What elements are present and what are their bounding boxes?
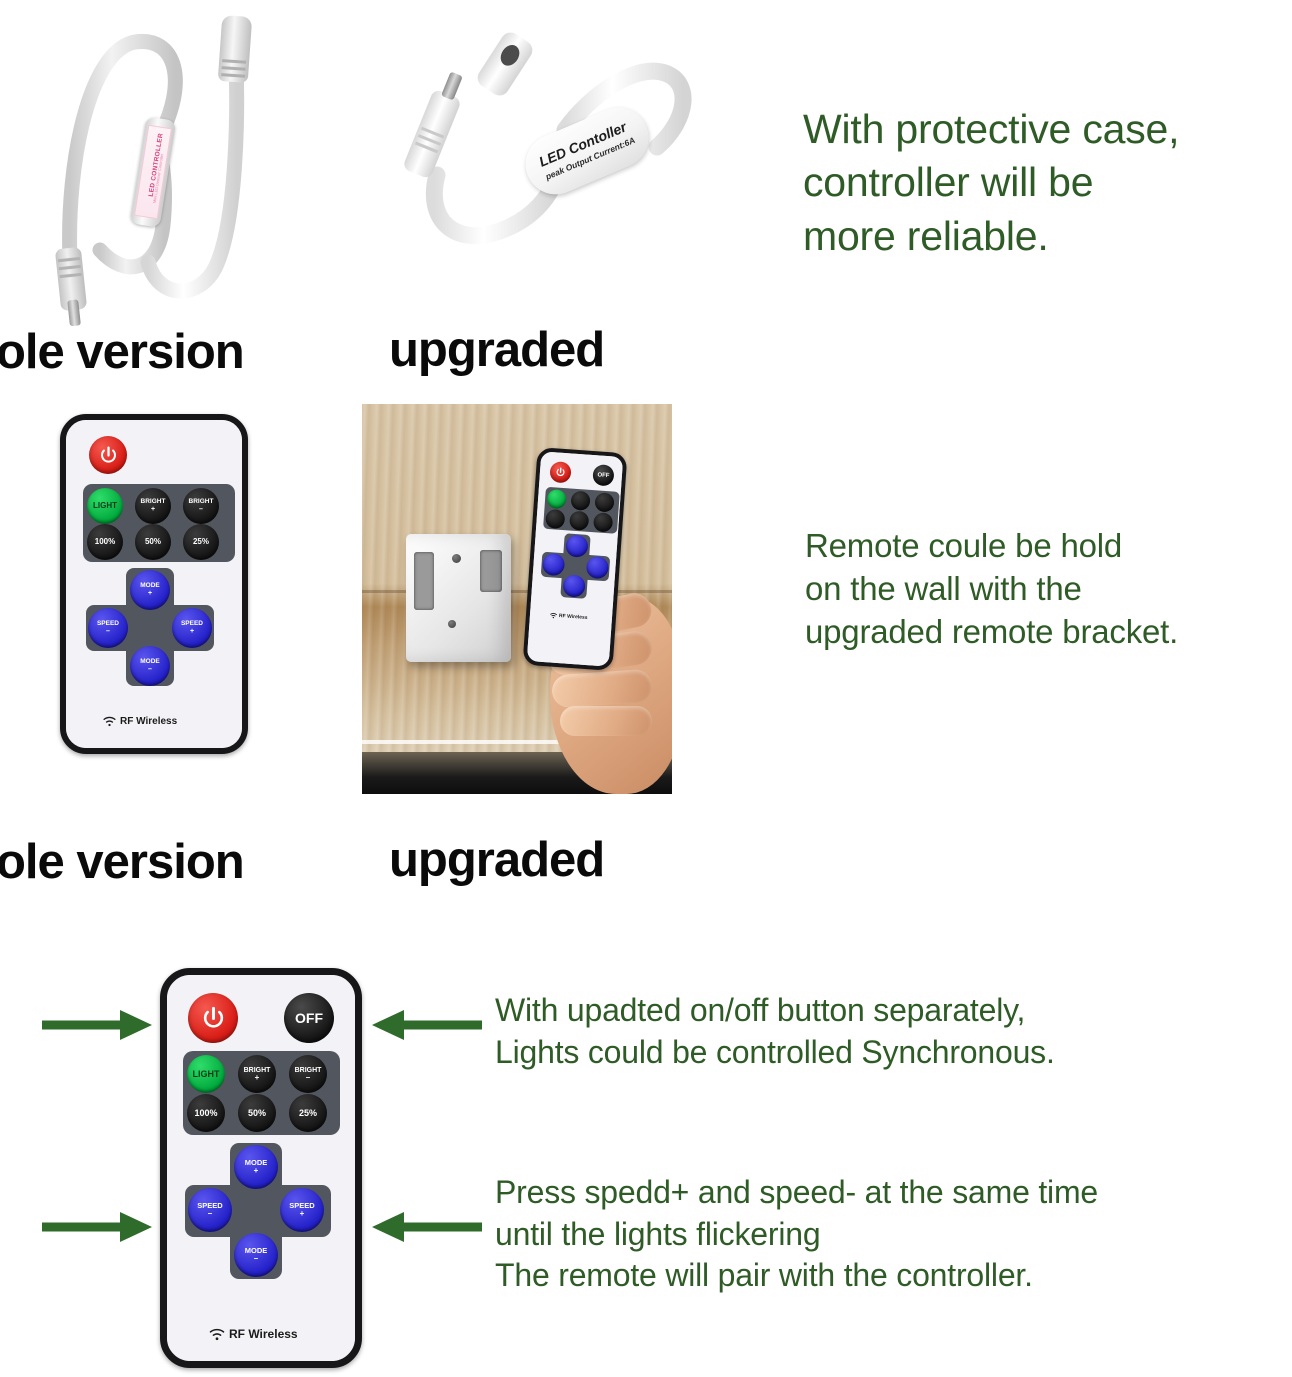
rf-wireless-footer: RF Wireless [103,716,177,727]
off-button-photo: OFF [592,464,614,486]
bright-down-sub: – [199,506,203,513]
speed-down-large-sub: – [208,1210,212,1218]
light-button-large-label: LIGHT [193,1070,220,1079]
wifi-icon-large [209,1328,225,1341]
bright-up-button[interactable]: BRIGHT + [135,488,171,524]
brightness-100-label: 100% [95,538,115,546]
remote-wall-bracket [406,534,511,662]
upgraded-remote-large[interactable]: OFF LIGHT BRIGHT + BRIGHT – 100% 50% 25% [160,968,362,1368]
off-button-label: OFF [295,1010,323,1026]
brightness-25-button[interactable]: 25% [183,524,219,560]
callout-protective-case: With protective case, controller will be… [803,103,1263,263]
power-icon [98,445,119,466]
light-button-label: LIGHT [93,502,117,510]
mode-up-button[interactable]: MODE + [130,570,170,610]
mode-down-button[interactable]: MODE – [130,646,170,686]
arrow-left-speed [40,1207,160,1247]
bright-up-button-large[interactable]: BRIGHT + [238,1055,276,1093]
speed-up-button[interactable]: SPEED + [172,608,212,648]
infographic-page: LED CONTROLLER Mini LED Dimmer Controlle… [0,0,1292,1377]
old-controller-image: LED CONTROLLER Mini LED Dimmer Controlle… [40,10,340,315]
mode-up-button-large[interactable]: MODE + [234,1145,278,1189]
callout-onoff-separate: With upadted on/off button separately, L… [495,990,1285,1073]
brightness-25-label: 25% [193,538,209,546]
remote-in-hand-face: OFF [527,451,623,666]
bright-up-sub: + [151,506,155,513]
speed-down-button[interactable]: SPEED – [88,608,128,648]
light-button-large[interactable]: LIGHT [187,1055,225,1093]
rf-wireless-photo-label: RF Wireless [559,613,588,621]
mode-down-large-sub: – [254,1255,258,1263]
bright-down-button-large[interactable]: BRIGHT – [289,1055,327,1093]
arrow-right-onoff [364,1005,484,1045]
brightness-50-large-label: 50% [248,1109,266,1118]
light-button[interactable]: LIGHT [87,488,123,524]
arrow-left-onoff [40,1005,160,1045]
bright-up-large-sub: + [255,1074,260,1082]
brightness-50-button[interactable]: 50% [135,524,171,560]
upgraded-controller-image: LED Contoller peak Output Current:6A [395,25,715,290]
rf-wireless-label: RF Wireless [120,716,177,727]
brightness-100-button-large[interactable]: 100% [187,1094,225,1132]
old-remote-face: LIGHT BRIGHT + BRIGHT – 100% 50% 25% [66,420,242,748]
rf-wireless-footer-large: RF Wireless [209,1327,298,1341]
callout-wall-bracket: Remote coule be hold on the wall with th… [805,525,1285,654]
wifi-icon-photo [550,612,557,618]
power-icon-large [200,1005,227,1032]
old-controller-female-jack [218,15,253,83]
brightness-50-label: 50% [145,538,161,546]
brightness-50-button-large[interactable]: 50% [238,1094,276,1132]
power-icon-photo [555,466,567,478]
bright-down-large-sub: – [306,1074,310,1082]
wifi-icon [103,716,116,727]
finger-little [560,706,652,736]
wall-bracket-photo: OFF [362,404,672,794]
power-button[interactable] [89,436,127,474]
mode-down-sub: – [148,666,152,673]
callout-pairing-instructions: Press spedd+ and speed- at the same time… [495,1172,1290,1297]
upgraded-remote-face: OFF LIGHT BRIGHT + BRIGHT – 100% 50% 25% [167,975,355,1361]
off-button-photo-label: OFF [597,472,609,479]
power-button-photo [549,461,571,483]
finger-ring [551,669,653,709]
rf-wireless-photo: RF Wireless [550,612,588,621]
old-controller-cable [40,10,340,315]
brightness-25-large-label: 25% [299,1109,317,1118]
speed-up-button-large[interactable]: SPEED + [280,1188,324,1232]
off-button-large[interactable]: OFF [284,993,334,1043]
arrow-right-speed [364,1207,484,1247]
brightness-100-button[interactable]: 100% [87,524,123,560]
brightness-25-button-large[interactable]: 25% [289,1094,327,1132]
speed-up-large-sub: + [300,1210,305,1218]
old-version-remote[interactable]: LIGHT BRIGHT + BRIGHT – 100% 50% 25% [60,414,248,754]
rf-wireless-large-label: RF Wireless [229,1327,298,1341]
label-old-version-middle: ole version [0,834,244,890]
speed-up-sub: + [190,628,194,635]
mode-up-sub: + [148,590,152,597]
speed-down-button-large[interactable]: SPEED – [188,1188,232,1232]
label-upgraded-top: upgraded [389,322,604,378]
mode-up-large-sub: + [254,1167,259,1175]
label-upgraded-middle: upgraded [389,832,604,888]
brightness-100-large-label: 100% [194,1109,217,1118]
label-old-version-top: ole version [0,324,244,380]
power-button-large[interactable] [188,993,238,1043]
bright-down-button[interactable]: BRIGHT – [183,488,219,524]
remote-in-hand: OFF [523,447,628,671]
mode-down-button-large[interactable]: MODE – [234,1233,278,1277]
speed-down-sub: – [106,628,110,635]
